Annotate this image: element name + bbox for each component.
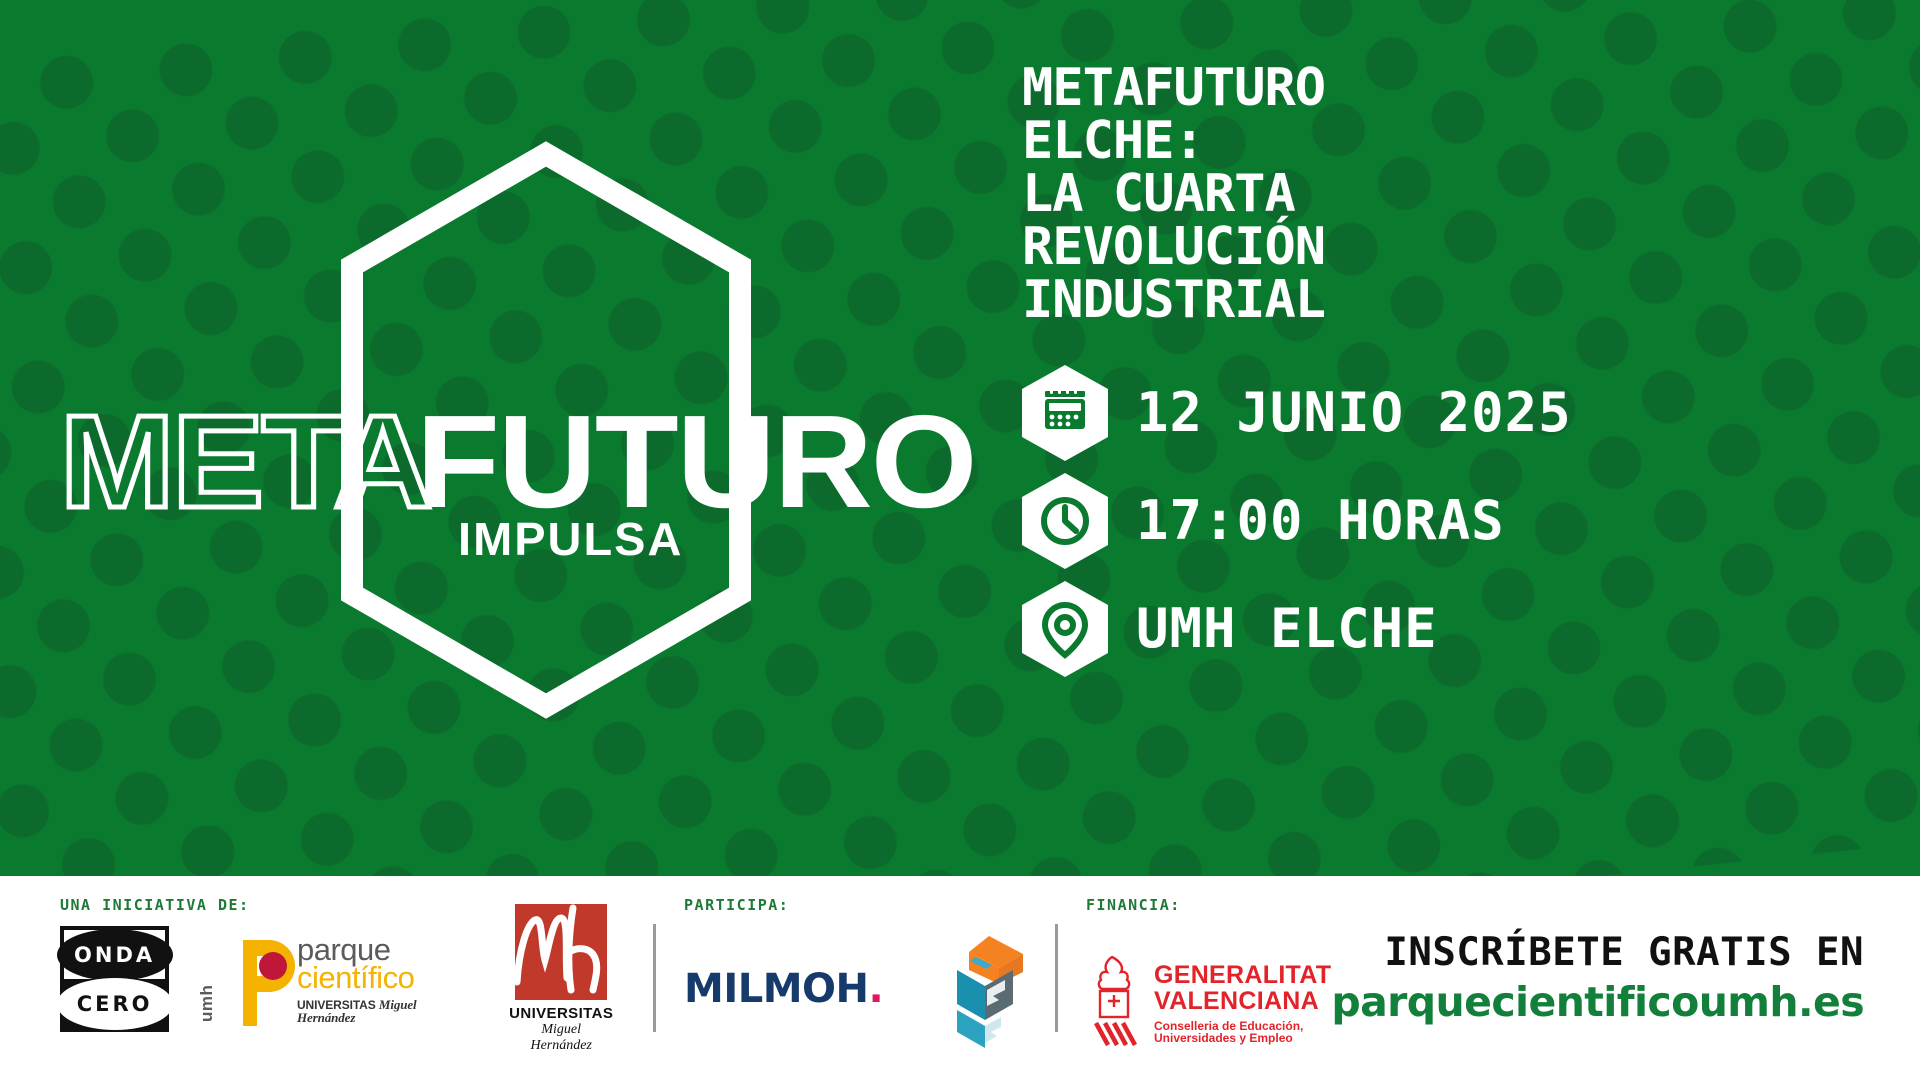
footer-group-financia: FINANCIA: (1086, 902, 1331, 1054)
footer-divider-1 (653, 924, 656, 1032)
milmoh-dot: . (869, 966, 884, 1012)
headline-line-4: REVOLUCIÓN (1022, 221, 1882, 274)
parque-cientifico-word-2: científico (297, 962, 457, 993)
event-time-row: 17:00 HORAS (1022, 467, 1882, 575)
generalitat-wordmark: GENERALITAT VALENCIANA Conselleria de Ed… (1154, 962, 1331, 1045)
location-pin-icon (1022, 581, 1108, 677)
milmoh-text: MILMOH (684, 966, 868, 1012)
umh-logo[interactable]: UNIVERSITAS Miguel Hernández (509, 904, 613, 1054)
cta-block[interactable]: INSCRÍBETE GRATIS EN parquecientificoumh… (1331, 930, 1920, 1026)
wordmark-meta: META (60, 407, 430, 518)
umh-line-1: UNIVERSITAS (509, 1005, 613, 1022)
onda-cero-logo[interactable]: ONDA CERO (60, 926, 169, 1032)
onda-cero-line-2: CERO (57, 978, 173, 1030)
onda-cero-line-1: ONDA (57, 929, 173, 981)
footer-divider-2 (1055, 924, 1058, 1032)
event-location-row: UMH ELCHE (1022, 575, 1882, 683)
wordmark-futuro: FUTURO (416, 407, 975, 518)
headline-line-5: INDUSTRIAL (1022, 274, 1882, 327)
wordmark-tagline: IMPULSA (458, 512, 683, 566)
brand-lockup: METAFUTURO IMPULSA (60, 120, 960, 740)
parque-cientifico-umh-text: umh (197, 985, 217, 1022)
generalitat-crest-icon (1086, 953, 1142, 1054)
parque-cientifico-wordmark: parque científico UNIVERSITAS Miguel Her… (297, 934, 457, 1024)
parque-cientifico-p-icon (237, 932, 297, 1026)
cta-url[interactable]: parquecientificoumh.es (1331, 978, 1864, 1026)
poster-root: METAFUTURO IMPULSA METAFUTURO ELCHE: LA … (0, 0, 1920, 1080)
generalitat-valenciana-logo[interactable]: GENERALITAT VALENCIANA Conselleria de Ed… (1086, 953, 1331, 1054)
parque-cientifico-umh-logo[interactable]: umh parque científico UNIVERSITAS Miguel… (217, 932, 457, 1026)
event-info-block: METAFUTURO ELCHE: LA CUARTA REVOLUCIÓN I… (1022, 62, 1882, 683)
generalitat-line-2: VALENCIANA (1154, 988, 1331, 1014)
footer-logos-financia: GENERALITAT VALENCIANA Conselleria de Ed… (1086, 927, 1331, 1054)
metafuturo-wordmark: METAFUTURO (60, 378, 960, 518)
parque-cientifico-word-3: UNIVERSITAS Miguel Hernández (297, 998, 457, 1024)
footer-bar: UNA INICIATIVA DE: ONDA CERO umh (0, 876, 1920, 1080)
onda-cero-top: ONDA (64, 930, 165, 979)
parque-cientifico-mark: umh (217, 932, 288, 1026)
event-headline: METAFUTURO ELCHE: LA CUARTA REVOLUCIÓN I… (1022, 62, 1882, 327)
onda-cero-bottom: CERO (64, 979, 165, 1028)
event-date-text: 12 JUNIO 2025 (1136, 386, 1572, 440)
event-meta-rows: 12 JUNIO 2025 17:00 HORAS (1022, 359, 1882, 683)
milmoh-logo[interactable]: MILMOH. (684, 966, 883, 1012)
umh-mark (515, 904, 607, 1000)
footer-group-iniciativa: UNA INICIATIVA DE: ONDA CERO umh (60, 902, 613, 1054)
cta-line-1: INSCRÍBETE GRATIS EN (1331, 930, 1864, 975)
event-location-text: UMH ELCHE (1136, 602, 1438, 656)
footer-group-participa: PARTICIPA: MILMOH. (684, 902, 1027, 1054)
event-date-row: 12 JUNIO 2025 (1022, 359, 1882, 467)
footer-label-participa: PARTICIPA: (684, 896, 789, 914)
hero-panel: METAFUTURO IMPULSA METAFUTURO ELCHE: LA … (0, 0, 1920, 876)
isometric-cube-logo[interactable] (943, 924, 1027, 1054)
headline-line-2: ELCHE: (1022, 115, 1882, 168)
generalitat-line-4: Universidades y Empleo (1154, 1032, 1331, 1045)
footer-label-iniciativa: UNA INICIATIVA DE: (60, 896, 250, 914)
headline-line-3: LA CUARTA (1022, 168, 1882, 221)
clock-icon (1022, 473, 1108, 569)
headline-line-1: METAFUTURO (1022, 62, 1882, 115)
event-time-text: 17:00 HORAS (1136, 494, 1505, 548)
footer-logos-participa: MILMOH. (684, 898, 1027, 1054)
footer-label-financia: FINANCIA: (1086, 896, 1181, 914)
generalitat-line-1: GENERALITAT (1154, 962, 1331, 988)
calendar-icon (1022, 365, 1108, 461)
umh-line-2: Miguel Hernández (509, 1022, 613, 1054)
